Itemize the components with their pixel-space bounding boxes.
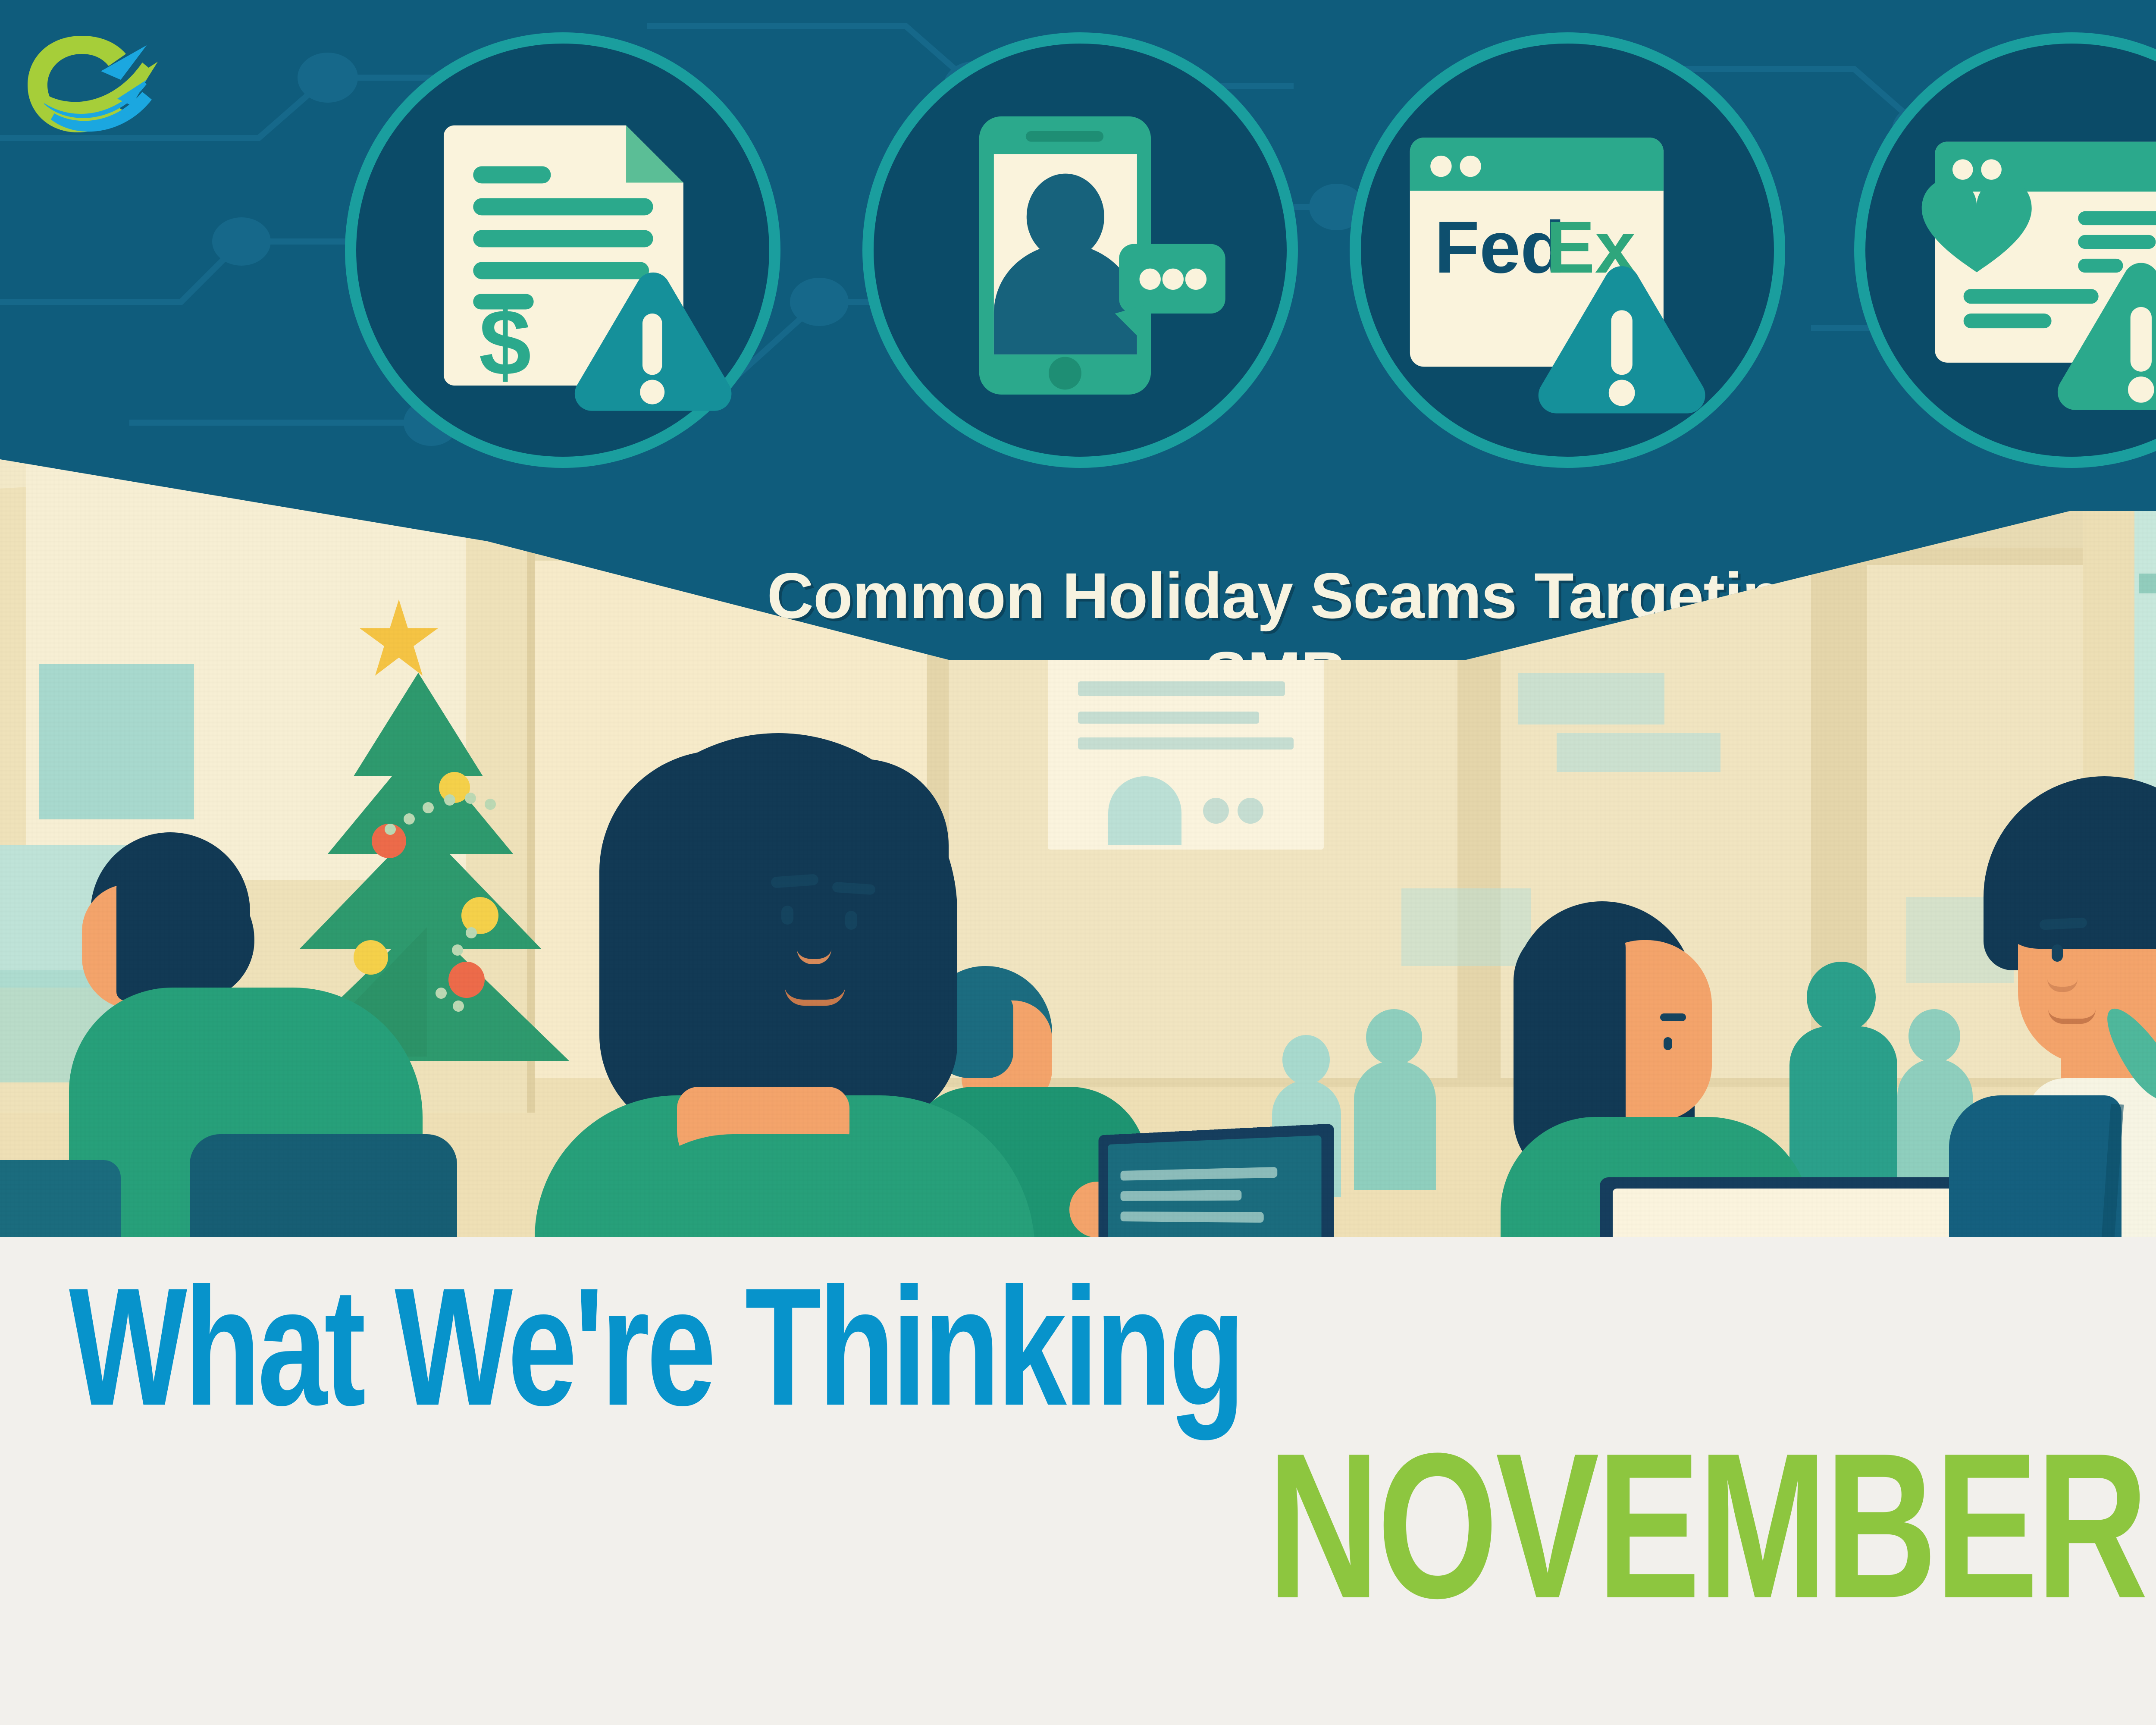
tree-ornament: [448, 962, 485, 998]
eyebrow: [1660, 1013, 1686, 1021]
eye: [2052, 944, 2063, 962]
eye: [1664, 1037, 1672, 1050]
laptop: [1098, 1123, 1334, 1238]
board-graphic: [1108, 776, 1181, 845]
office-chair: [190, 1134, 457, 1238]
tree-garland-bead: [466, 927, 477, 938]
tree-garland-bead: [453, 1000, 464, 1012]
hair-back: [116, 871, 254, 1000]
potted-plant-secondary: [2134, 957, 2156, 1238]
tree-garland-bead: [404, 813, 415, 825]
tree-garland-bead: [436, 988, 447, 999]
eye: [845, 911, 857, 930]
office-chair-arm: [0, 1160, 121, 1238]
person-left-worker: [26, 832, 414, 1238]
footer-headline: What We're Thinking: [69, 1263, 1242, 1430]
mouth: [785, 987, 845, 1006]
wall-panel: [1557, 733, 1720, 772]
tree-garland-bead: [485, 799, 496, 810]
mouth: [2048, 1009, 2096, 1024]
fedex-phishing-icon: Fed Ex: [1361, 44, 1774, 457]
tree-garland-bead: [423, 802, 434, 813]
icon-circle-charity-scam[interactable]: [1854, 32, 2156, 468]
board-line: [1078, 737, 1294, 750]
icon-circle-fedex-phishing[interactable]: Fed Ex: [1350, 32, 1785, 468]
wall-panel: [1518, 673, 1664, 724]
charity-scam-icon: [1865, 44, 2156, 457]
eye: [781, 906, 793, 925]
suit-jacket-left: [1949, 1095, 2122, 1238]
screen-line: [1120, 1211, 1263, 1223]
phone-impersonation-icon: [874, 44, 1287, 457]
person-man-suit: [1932, 776, 2156, 1238]
footer-band: What We're Thinking NOVEMBER 2025: [0, 1237, 2156, 1725]
window-mullion: [2139, 574, 2156, 593]
tree-garland-bead: [452, 944, 463, 956]
board-line: [1078, 712, 1259, 724]
hair-back: [811, 759, 949, 1113]
poster-canvas: $: [0, 0, 2156, 1725]
laptop: [1600, 1177, 1988, 1238]
icon-circle-fake-invoice[interactable]: $: [345, 32, 780, 468]
board-dot: [1238, 798, 1263, 824]
screen-line: [1120, 1190, 1241, 1201]
icon-circle-impersonation[interactable]: [862, 32, 1298, 468]
person-main-woman: [569, 733, 1087, 1238]
tree-star-icon: [358, 599, 440, 681]
svg-text:$: $: [479, 290, 531, 395]
board-line: [1078, 681, 1285, 696]
brand-logo-icon: [17, 19, 160, 149]
tree-garland-bead: [444, 794, 455, 806]
person-woman-laptop: [1488, 901, 1876, 1238]
laptop-screen: [1108, 1135, 1321, 1238]
hair-front: [599, 750, 841, 1138]
board-dot: [1203, 798, 1229, 824]
left-window-glass: [39, 664, 194, 819]
laptop-screen: [1613, 1189, 1975, 1238]
fake-invoice-icon: $: [356, 44, 769, 457]
tree-garland-bead: [465, 793, 476, 804]
footer-date: NOVEMBER 2025: [1267, 1422, 2156, 1629]
